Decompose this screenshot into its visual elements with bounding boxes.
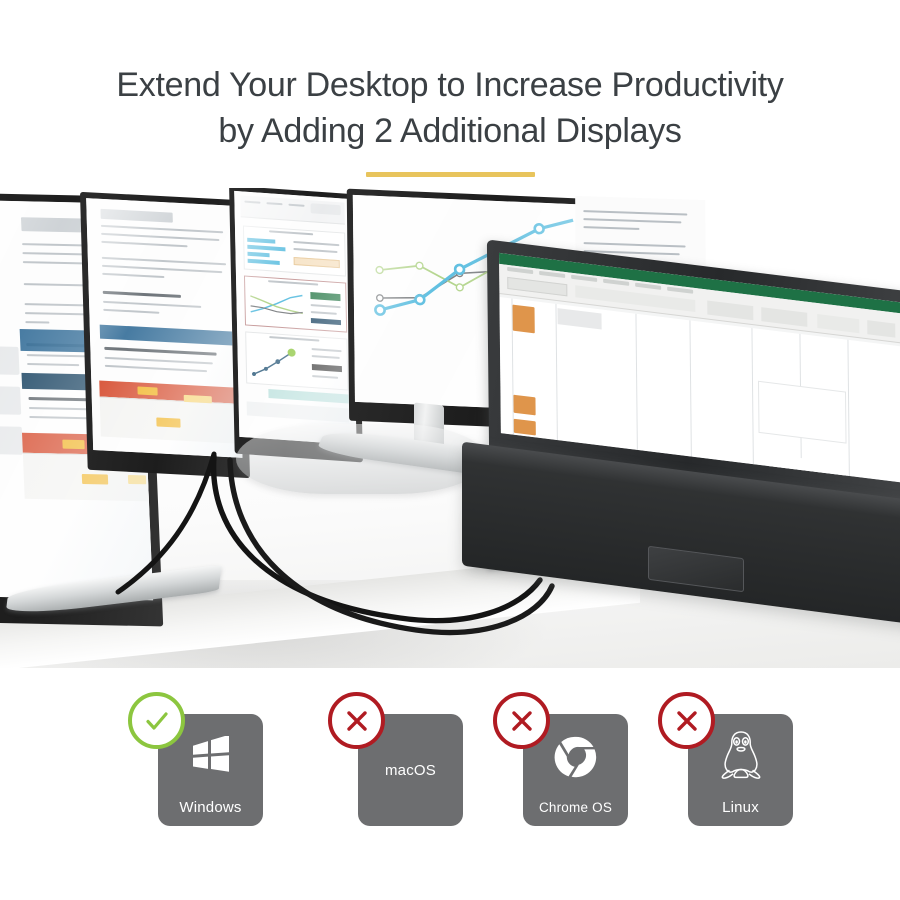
status-supported-check (128, 692, 185, 749)
monitor-3 (229, 188, 363, 462)
check-icon (142, 706, 172, 736)
mini-line-chart (248, 288, 307, 322)
monitor-2-document (86, 198, 242, 458)
laptop-screen (499, 253, 900, 483)
close-icon (343, 707, 371, 735)
laptop (452, 266, 900, 596)
tux-penguin-logo (717, 728, 765, 787)
status-unsupported-x (328, 692, 385, 749)
os-label-linux: Linux (722, 799, 759, 816)
headline-line-1: Extend Your Desktop to Increase Producti… (0, 62, 900, 108)
monitor-3-dashboard (234, 191, 356, 445)
os-label-chromeos: Chrome OS (539, 799, 612, 816)
close-icon (673, 707, 701, 735)
windows-logo (189, 736, 233, 781)
list-chip (0, 424, 23, 455)
os-badge-linux[interactable]: Linux (688, 714, 793, 826)
monitor-2-screen (86, 198, 242, 458)
list-chip (0, 384, 21, 415)
os-badge-chromeos[interactable]: Chrome OS (523, 714, 628, 826)
close-icon (508, 707, 536, 735)
status-unsupported-x (493, 692, 550, 749)
mini-scatter-chart (249, 344, 306, 382)
monitor-3-screen (234, 191, 356, 445)
list-chip (0, 344, 20, 375)
status-unsupported-x (658, 692, 715, 749)
chrome-logo (553, 734, 599, 785)
os-compatibility-row: Windows macOS (0, 660, 900, 860)
headline-line-2: by Adding 2 Additional Displays (0, 108, 900, 154)
os-label-macos: macOS (385, 762, 436, 779)
os-badge-windows[interactable]: Windows (158, 714, 263, 826)
os-badge-macos[interactable]: macOS (358, 714, 463, 826)
monitor-2 (80, 192, 250, 478)
page-title: Extend Your Desktop to Increase Producti… (0, 62, 900, 154)
os-label-windows: Windows (179, 799, 241, 816)
headline-accent-rule (366, 172, 535, 177)
product-photo: StarTech.com (0, 188, 900, 668)
monitor-stand-base (236, 424, 486, 494)
